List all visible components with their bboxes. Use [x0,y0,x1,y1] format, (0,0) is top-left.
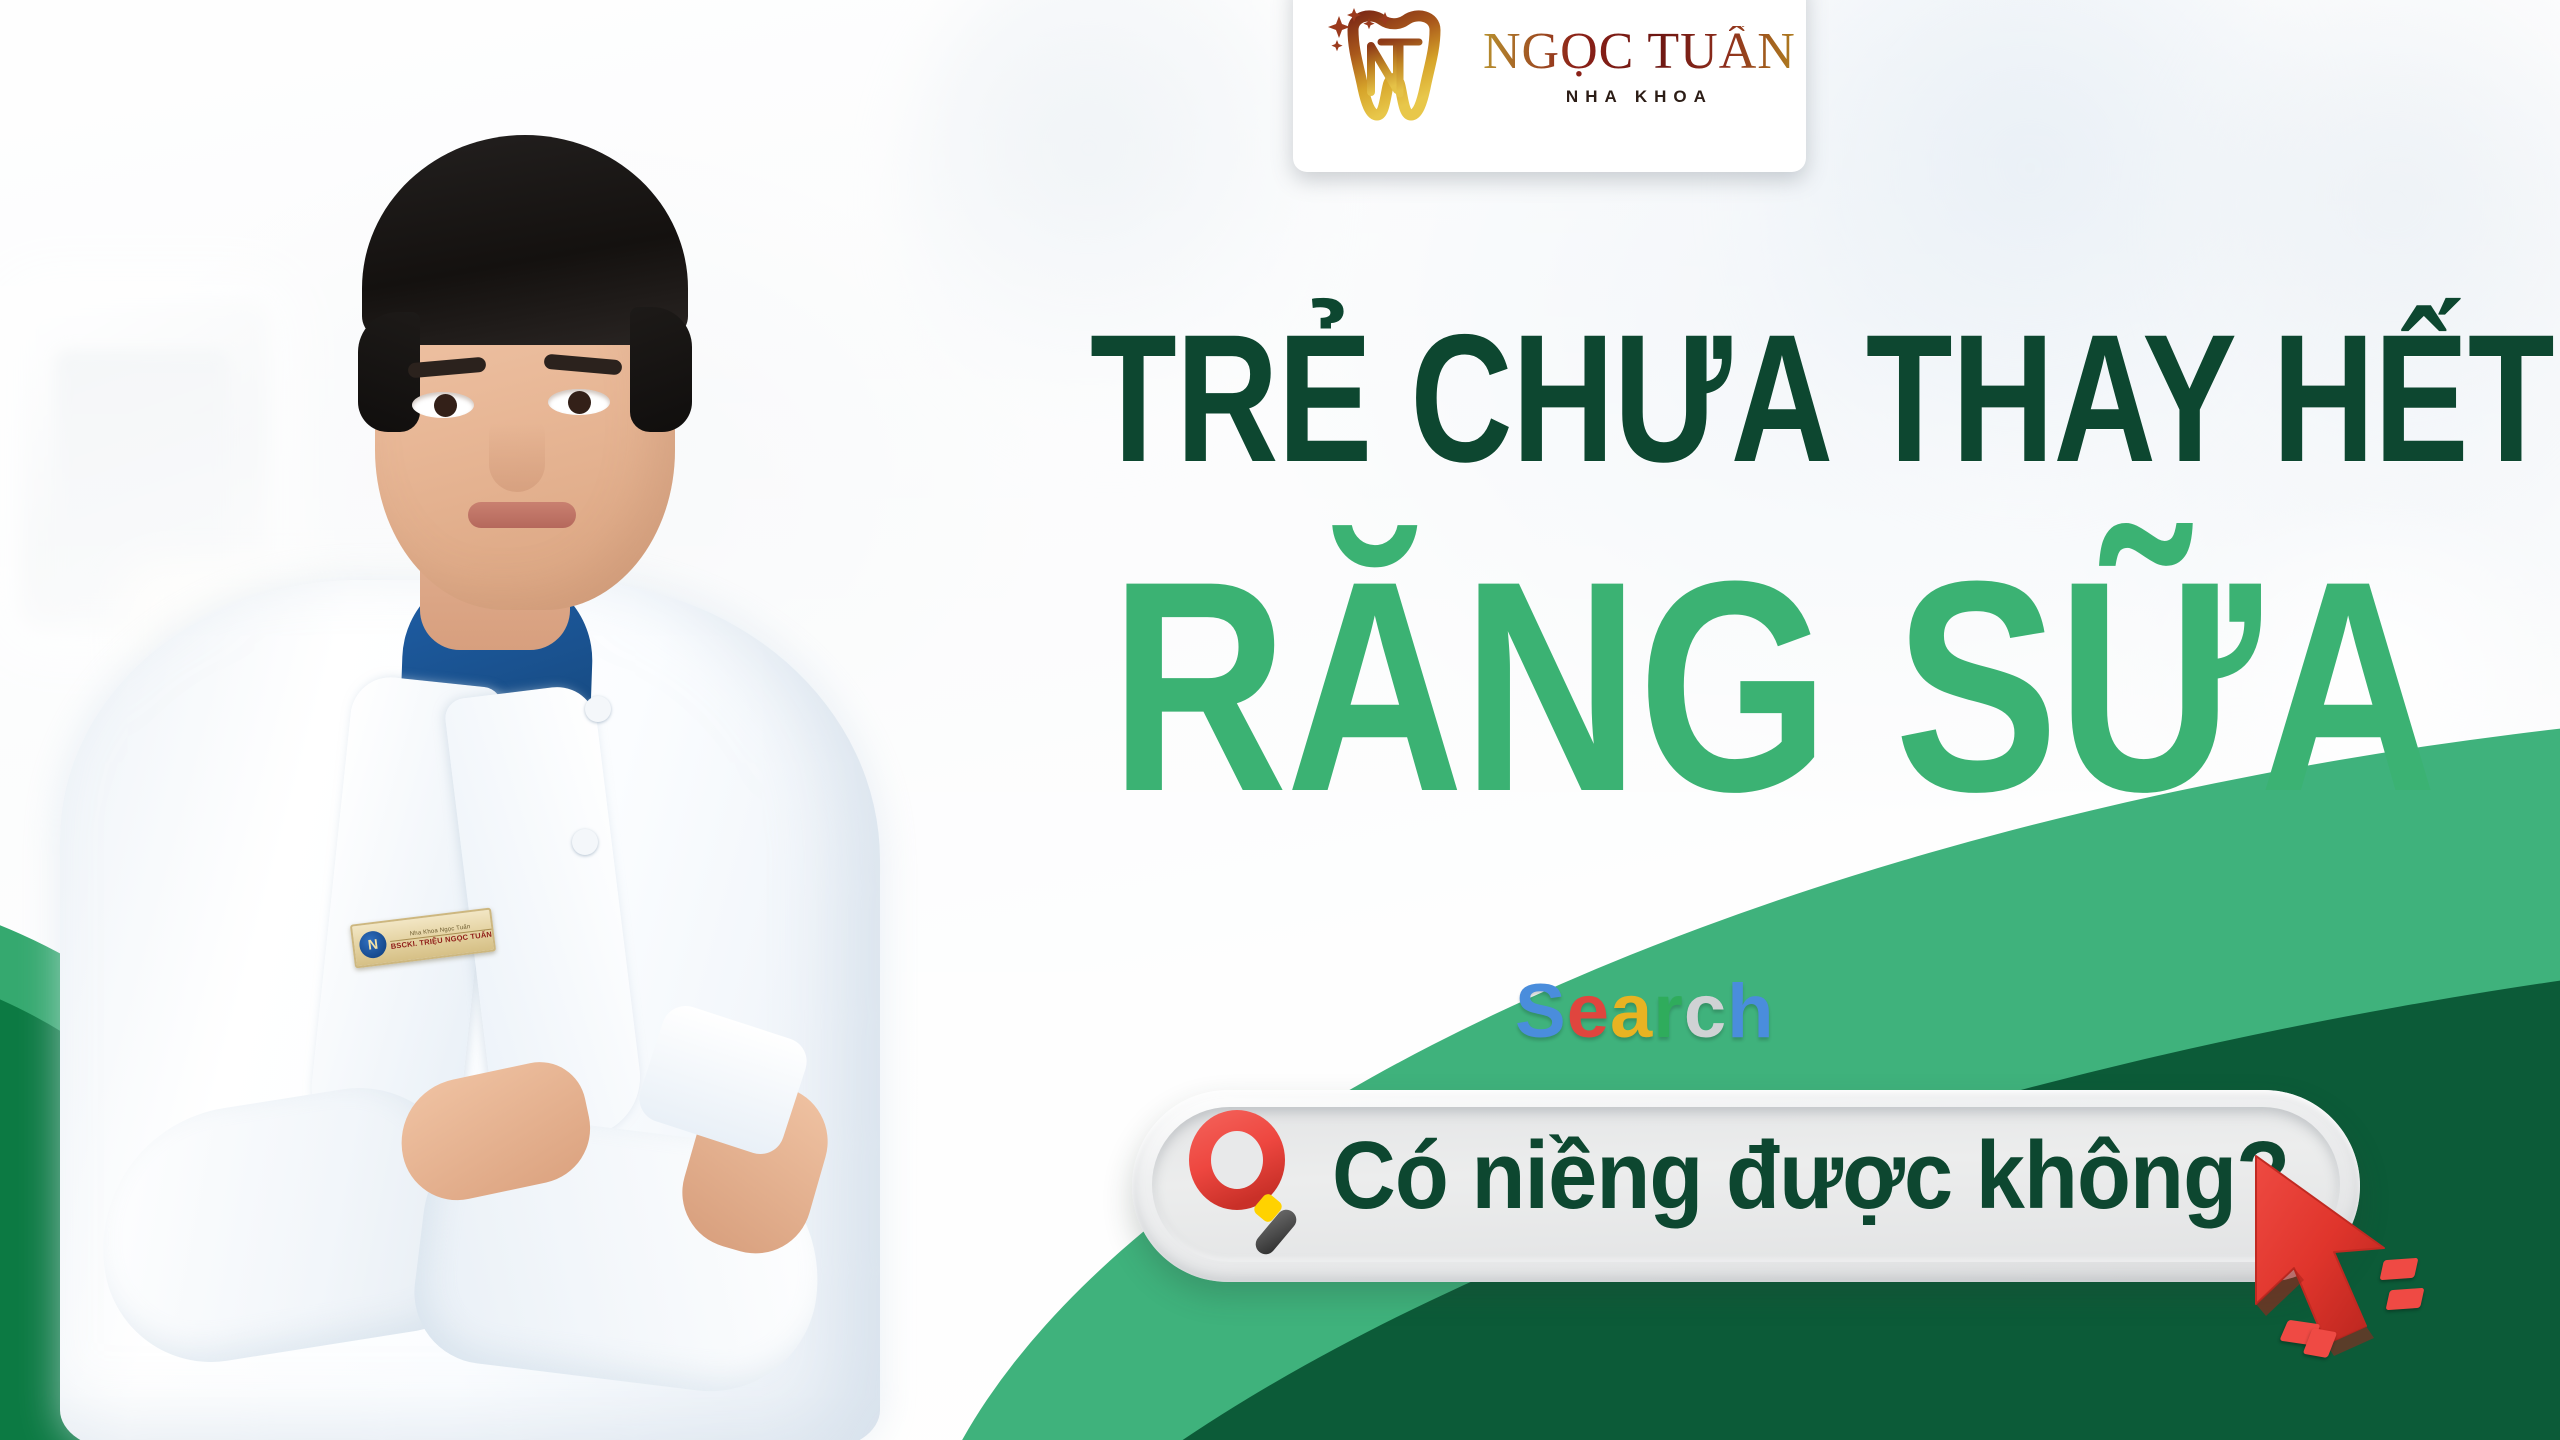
doctor-pupil-right [568,391,591,414]
search-letter-3: r [1653,968,1684,1055]
doctor-mouth [468,502,576,528]
brand-tagline: NHA KHOA [1483,87,1796,107]
magnifying-glass-icon [1180,1108,1320,1260]
click-effect-mark [2386,1288,2425,1310]
brand-logo-card[interactable]: NGỌC TUẤN NHA KHOA [1293,0,1806,172]
doctor-pupil-left [434,394,457,417]
badge-text-group: Nha Khoa Ngọc Tuấn BSCKI. TRIỆU NGỌC TUẤ… [389,921,492,950]
tooth-monogram-icon [1319,2,1469,130]
mouse-cursor-arrow-icon [2242,1148,2472,1388]
search-letter-5: h [1727,968,1774,1055]
clinic-seal-letter: N [367,937,379,952]
doctor-nose [489,416,545,492]
search-query-text[interactable]: Có niềng được không? [1332,1106,2223,1246]
search-bar[interactable]: Có niềng được không? [1132,1090,2360,1282]
clinic-seal-icon: N [358,929,388,959]
search-letter-4: c [1684,968,1727,1055]
search-letter-2: a [1610,968,1653,1055]
headline-line-1: TRẺ CHƯA THAY HẾT [1090,312,2213,502]
search-letter-1: e [1567,968,1610,1055]
search-wordmark: Search [1515,968,1775,1055]
click-effect-mark [2380,1258,2419,1280]
doctor-portrait: N Nha Khoa Ngọc Tuấn BSCKI. TRIỆU NGỌC T… [0,0,1040,1440]
headline-line-2: RĂNG SỮA [1110,548,2435,824]
search-letter-0: S [1515,968,1567,1055]
doctor-hair-side-right [630,307,692,432]
coat-button-bottom [572,829,598,855]
coat-button-top [585,696,611,722]
brand-name: NGỌC TUẤN [1483,26,1796,78]
brand-wordmark: NGỌC TUẤN NHA KHOA [1483,26,1796,107]
dental-promo-banner: N Nha Khoa Ngọc Tuấn BSCKI. TRIỆU NGỌC T… [0,0,2560,1440]
